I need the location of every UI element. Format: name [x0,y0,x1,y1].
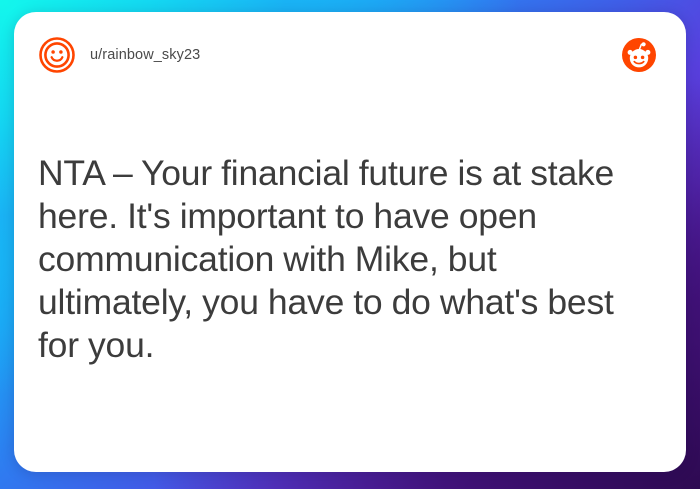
reddit-snoo-icon[interactable] [622,38,656,72]
username-label[interactable]: u/rainbow_sky23 [90,47,200,63]
reddit-post-card: u/rainbow_sky23 NTA – Your financial fut… [14,12,686,472]
post-text: NTA – Your financial future is at stake … [38,152,652,367]
smiley-face-avatar-icon[interactable] [38,36,76,74]
post-body: NTA – Your financial future is at stake … [38,152,652,367]
post-header: u/rainbow_sky23 [14,12,686,98]
